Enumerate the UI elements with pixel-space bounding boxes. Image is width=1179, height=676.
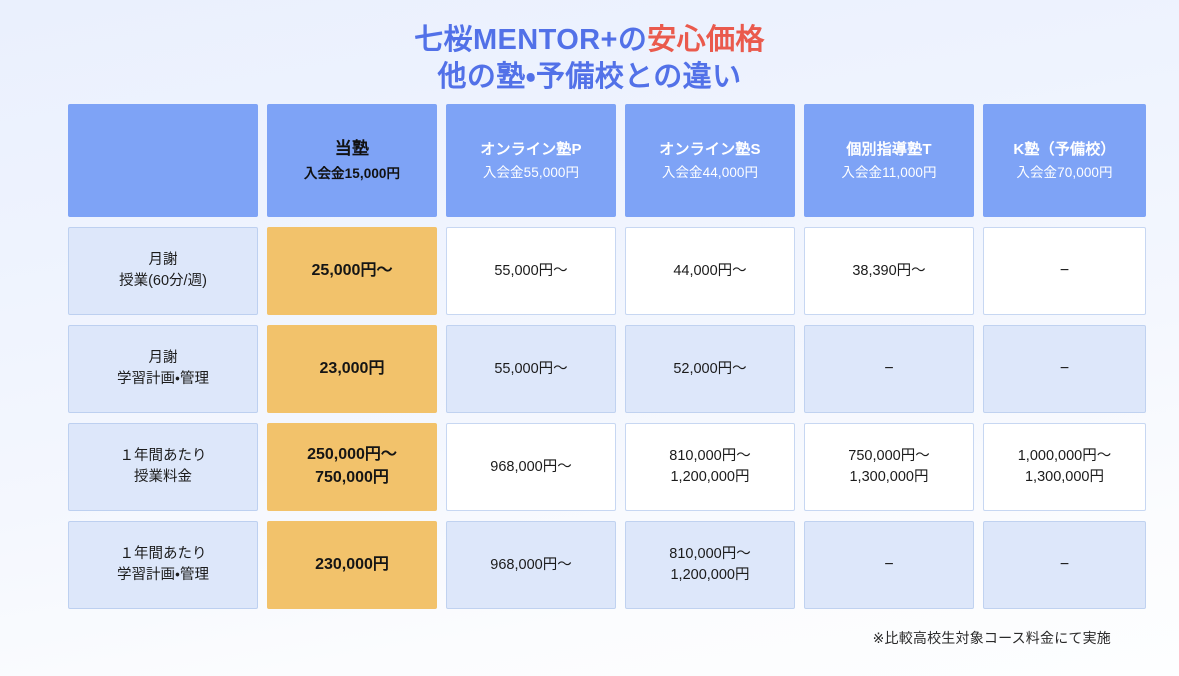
- cell-value-line-1: −: [884, 358, 893, 381]
- cell-value-line-1: 810,000円〜: [669, 446, 750, 467]
- table-cell-r1-c1: 25,000円〜: [267, 227, 437, 315]
- table-cell-r3-c5: 1,000,000円〜1,300,000円: [983, 423, 1146, 511]
- pricing-comparison-page: 七桜MENTOR+の安心価格 他の塾・予備校との違い 当塾入会金15,000円オ…: [0, 0, 1179, 676]
- cell-value-line-1: 23,000円: [320, 358, 385, 381]
- comparison-table: 当塾入会金15,000円オンライン塾P入会金55,000円オンライン塾S入会金4…: [68, 104, 1111, 609]
- cell-value-line-2: 1,300,000円: [849, 467, 928, 488]
- cell-value-line-2: 1,200,000円: [670, 467, 749, 488]
- table-cell-r2-c5: −: [983, 325, 1146, 413]
- title-line-2: 他の塾・予備校との違い: [0, 59, 1179, 96]
- column-header-enrollment-fee: 入会金70,000円: [1016, 163, 1112, 182]
- column-header-3: オンライン塾S入会金44,000円: [625, 104, 795, 217]
- table-cell-r1-c3: 44,000円〜: [625, 227, 795, 315]
- table-cell-r4-c5: −: [983, 521, 1146, 609]
- cell-value-line-1: 44,000円〜: [673, 261, 746, 282]
- row-label-line-2: 授業(60分/週): [119, 271, 207, 292]
- column-header-enrollment-fee: 入会金55,000円: [483, 163, 579, 182]
- cell-value-line-1: −: [1060, 260, 1069, 283]
- column-header-1: 当塾入会金15,000円: [267, 104, 437, 217]
- cell-value-line-1: 55,000円〜: [494, 359, 567, 380]
- cell-value-line-1: 810,000円〜: [669, 544, 750, 565]
- row-label-line-1: 月謝: [149, 348, 178, 369]
- table-cell-r4-c3: 810,000円〜1,200,000円: [625, 521, 795, 609]
- table-cell-r2-c1: 23,000円: [267, 325, 437, 413]
- cell-value-line-1: 750,000円〜: [848, 446, 929, 467]
- row-label-line-1: １年間あたり: [120, 446, 207, 467]
- table-cell-r4-c2: 968,000円〜: [446, 521, 616, 609]
- table-cell-r4-c4: −: [804, 521, 974, 609]
- cell-value-line-1: −: [1060, 358, 1069, 381]
- column-header-name: K塾（予備校）: [1013, 139, 1115, 160]
- footnote: ※比較高校生対象コース料金にて実施: [873, 628, 1111, 648]
- column-header-enrollment-fee: 入会金44,000円: [662, 163, 758, 182]
- column-header-name: 個別指導塾T: [846, 139, 931, 160]
- cell-value-line-2: 1,200,000円: [670, 565, 749, 586]
- table-cell-r1-c4: 38,390円〜: [804, 227, 974, 315]
- row-label-line-1: １年間あたり: [120, 544, 207, 565]
- column-header-enrollment-fee: 入会金11,000円: [841, 163, 936, 182]
- row-label-line-1: 月謝: [149, 250, 178, 271]
- cell-value-line-1: 968,000円〜: [490, 555, 571, 576]
- table-cell-r4-c1: 230,000円: [267, 521, 437, 609]
- cell-value-line-2: 750,000円: [315, 467, 389, 490]
- table-cell-r1-c2: 55,000円〜: [446, 227, 616, 315]
- cell-value-line-1: 250,000円〜: [307, 444, 397, 467]
- cell-value-line-1: 230,000円: [315, 554, 389, 577]
- table-cell-r3-c2: 968,000円〜: [446, 423, 616, 511]
- column-header-2: オンライン塾P入会金55,000円: [446, 104, 616, 217]
- row-label-line-2: 学習計画・管理: [117, 565, 209, 586]
- column-header-enrollment-fee: 入会金15,000円: [304, 164, 400, 183]
- cell-value-line-1: 25,000円〜: [312, 260, 393, 283]
- cell-value-line-1: 52,000円〜: [673, 359, 746, 380]
- column-header-5: K塾（予備校）入会金70,000円: [983, 104, 1146, 217]
- row-label-line-2: 授業料金: [134, 467, 192, 488]
- cell-value-line-2: 1,300,000円: [1025, 467, 1104, 488]
- column-header-name: 当塾: [335, 137, 369, 161]
- column-header-4: 個別指導塾T入会金11,000円: [804, 104, 974, 217]
- table-cell-r1-c5: −: [983, 227, 1146, 315]
- row-label-4: １年間あたり学習計画・管理: [68, 521, 258, 609]
- page-title: 七桜MENTOR+の安心価格 他の塾・予備校との違い: [0, 22, 1179, 95]
- table-corner-cell: [68, 104, 258, 217]
- row-label-1: 月謝授業(60分/週): [68, 227, 258, 315]
- cell-value-line-1: −: [884, 554, 893, 577]
- cell-value-line-1: −: [1060, 554, 1069, 577]
- table-cell-r2-c4: −: [804, 325, 974, 413]
- cell-value-line-1: 38,390円〜: [852, 261, 925, 282]
- table-cell-r3-c4: 750,000円〜1,300,000円: [804, 423, 974, 511]
- cell-value-line-1: 968,000円〜: [490, 457, 571, 478]
- table-cell-r2-c3: 52,000円〜: [625, 325, 795, 413]
- title-line-1: 七桜MENTOR+の安心価格: [0, 22, 1179, 59]
- table-cell-r3-c1: 250,000円〜750,000円: [267, 423, 437, 511]
- column-header-name: オンライン塾P: [480, 139, 581, 160]
- row-label-3: １年間あたり授業料金: [68, 423, 258, 511]
- row-label-line-2: 学習計画・管理: [117, 369, 209, 390]
- cell-value-line-1: 55,000円〜: [494, 261, 567, 282]
- cell-value-line-1: 1,000,000円〜: [1018, 446, 1112, 467]
- title-brand-text: 七桜MENTOR+の: [414, 24, 647, 56]
- row-label-2: 月謝学習計画・管理: [68, 325, 258, 413]
- table-cell-r2-c2: 55,000円〜: [446, 325, 616, 413]
- title-highlight-text: 安心価格: [647, 24, 765, 56]
- column-header-name: オンライン塾S: [659, 139, 760, 160]
- table-cell-r3-c3: 810,000円〜1,200,000円: [625, 423, 795, 511]
